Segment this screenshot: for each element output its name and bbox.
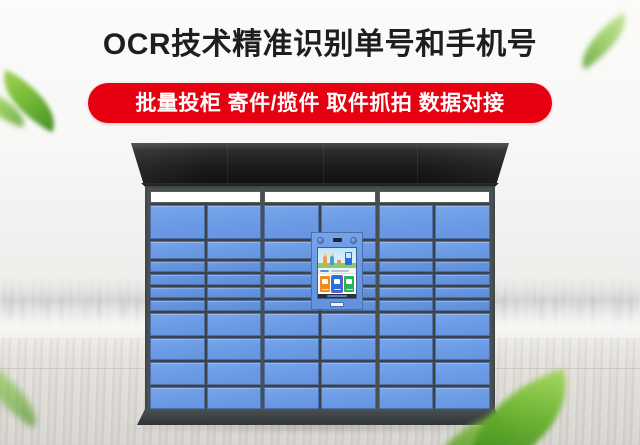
locker-door[interactable] [150,274,205,285]
door-row [379,338,490,361]
parcel-box-icon [334,279,340,284]
locker-door[interactable] [207,205,262,239]
deposit-parcel-button[interactable] [320,276,330,292]
locker-door[interactable] [150,241,205,259]
locker-door[interactable] [264,338,319,361]
door-row [379,387,490,410]
locker-ground-shadow [118,421,522,433]
door-row [150,287,261,298]
locker-door[interactable] [321,338,376,361]
locker-door[interactable] [207,387,262,410]
send-parcel-label [346,289,353,291]
screen-action-buttons [318,274,356,294]
canopy-fold-icon [227,145,228,183]
locker-door[interactable] [379,300,434,311]
locker-door[interactable] [150,300,205,311]
locker-door[interactable] [150,261,205,272]
locker-door[interactable] [150,387,205,410]
locker-door[interactable] [435,287,490,298]
locker-canopy-sheen [131,143,509,185]
door-row [379,300,490,311]
locker-door[interactable] [435,261,490,272]
locker-door[interactable] [150,205,205,239]
door-row [379,287,490,298]
door-row [379,362,490,385]
kiosk-touchscreen[interactable] [317,247,357,299]
parcel-box-icon [346,279,352,284]
locker-door[interactable] [435,300,490,311]
pickup-parcel-button[interactable] [332,276,342,292]
locker-door[interactable] [321,362,376,385]
door-row [150,205,261,239]
screen-title-bar [318,268,356,274]
canopy-fold-icon [417,145,418,183]
locker-door[interactable] [207,300,262,311]
door-row [150,387,261,410]
locker-door[interactable] [207,241,262,259]
door-row [264,362,375,385]
locker-door[interactable] [207,261,262,272]
bay-door-grid [150,205,261,409]
locker-door[interactable] [435,274,490,285]
locker-door[interactable] [207,287,262,298]
bay-door-grid [379,205,490,409]
locker-door[interactable] [207,313,262,336]
illustration-courier-icon [323,256,327,265]
locker-door[interactable] [379,261,434,272]
locker-door[interactable] [207,362,262,385]
parcel-box-icon [322,279,328,284]
door-row [379,241,490,259]
camera-lens-left-icon [317,237,324,244]
locker-door[interactable] [435,241,490,259]
locker-door[interactable] [379,362,434,385]
locker-door[interactable] [379,313,434,336]
door-row [150,300,261,311]
locker-door[interactable] [264,362,319,385]
locker-door[interactable] [150,313,205,336]
locker-door[interactable] [379,387,434,410]
canopy-fold-icon [323,145,324,183]
screen-status-bar [318,294,356,298]
door-row [150,241,261,259]
locker-door[interactable] [150,362,205,385]
control-kiosk[interactable] [311,232,363,310]
page-title: OCR技术精准识别单号和手机号 [0,26,640,64]
locker-door[interactable] [435,205,490,239]
locker-door[interactable] [150,287,205,298]
smart-parcel-locker [131,143,509,425]
locker-door[interactable] [321,313,376,336]
locker-door[interactable] [207,274,262,285]
door-row [150,313,261,336]
send-parcel-button[interactable] [344,276,354,292]
locker-door[interactable] [207,338,262,361]
door-row [264,387,375,410]
locker-door[interactable] [264,313,319,336]
feature-badge-label: 批量投柜 寄件/揽件 取件抓拍 数据对接 [135,93,504,114]
door-row [150,362,261,385]
door-row [379,261,490,272]
bay-header-sign [150,191,261,203]
card-reader-slot[interactable] [330,302,344,307]
door-row [150,338,261,361]
locker-door[interactable] [321,387,376,410]
locker-door[interactable] [435,338,490,361]
locker-door[interactable] [379,274,434,285]
deposit-parcel-label [322,289,329,291]
scanner-window-icon [333,238,342,242]
pickup-parcel-label [334,289,341,291]
locker-door[interactable] [379,205,434,239]
camera-lens-right-icon [350,237,357,244]
locker-door[interactable] [435,362,490,385]
locker-door[interactable] [379,338,434,361]
locker-door[interactable] [435,387,490,410]
illustration-customer-icon [330,256,334,265]
door-row [150,261,261,272]
door-row [150,274,261,285]
door-row [379,205,490,239]
bay-header-sign [264,191,375,203]
locker-door[interactable] [264,387,319,410]
feature-badge: 批量投柜 寄件/揽件 取件抓拍 数据对接 [88,83,552,123]
screen-illustration [318,248,356,268]
locker-door[interactable] [435,313,490,336]
bay-header-sign [379,191,490,203]
illustration-parcel-icon [337,260,341,264]
promo-banner: OCR技术精准识别单号和手机号 批量投柜 寄件/揽件 取件抓拍 数据对接 [0,0,640,445]
door-row [264,338,375,361]
door-row [379,313,490,336]
locker-bay-left [150,191,261,409]
door-row [379,274,490,285]
locker-door[interactable] [150,338,205,361]
locker-door[interactable] [379,241,434,259]
kiosk-sensor-bar [317,236,357,244]
illustration-locker-icon [345,252,352,265]
locker-bay-right [379,191,490,409]
locker-door[interactable] [379,287,434,298]
door-row [264,313,375,336]
